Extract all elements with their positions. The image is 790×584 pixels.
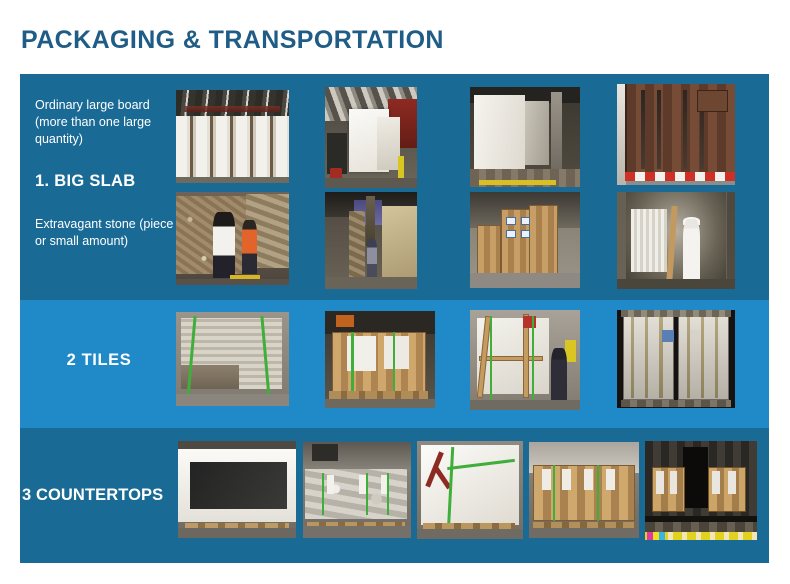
photo-wooden-crates-stacked-on-pallet[interactable] <box>529 442 639 538</box>
heading-big-slab: 1. BIG SLAB <box>35 172 135 191</box>
photo-grey-countertop-slabs-strapped[interactable] <box>303 442 411 538</box>
heading-countertops: 3 COUNTERTOPS <box>22 486 163 505</box>
photo-white-wrapped-slabs-in-warehouse[interactable] <box>176 90 289 183</box>
photo-slabs-loading-into-truck[interactable] <box>325 87 417 188</box>
caption-ordinary-large-board: Ordinary large board (more than one larg… <box>35 97 175 148</box>
photo-crates-loaded-inside-container[interactable] <box>645 441 757 540</box>
photo-warehouse-aisle-with-stone-slabs[interactable] <box>325 192 417 289</box>
caption-extravagant-stone: Extravagant stone (piece or small amount… <box>35 216 175 250</box>
photo-workers-inspecting-granite-slab[interactable] <box>176 192 289 285</box>
photo-closed-container-doors[interactable] <box>617 310 735 408</box>
photo-brown-shipping-container-rear-doors[interactable] <box>617 84 735 185</box>
label-column: Ordinary large board (more than one larg… <box>20 74 178 563</box>
photo-white-slabs-inside-flatbed-container[interactable] <box>470 87 580 187</box>
photo-white-wrapped-bundle-with-straps[interactable] <box>417 441 523 539</box>
photo-crated-tile-bundle-with-worker[interactable] <box>470 310 580 410</box>
packaging-panel: Ordinary large board (more than one larg… <box>20 74 769 563</box>
heading-tiles: 2 TILES <box>20 351 178 370</box>
photo-strapped-stacked-tile-bundle[interactable] <box>176 312 289 406</box>
photo-black-countertop-slab-on-pallet[interactable] <box>178 441 296 538</box>
photo-wooden-a-frame-crates-with-labels[interactable] <box>470 192 580 288</box>
photo-worker-loading-slabs-into-container[interactable] <box>617 192 735 289</box>
photo-wooden-crate-on-pallet[interactable] <box>325 311 435 408</box>
page-title: PACKAGING & TRANSPORTATION <box>21 26 444 55</box>
